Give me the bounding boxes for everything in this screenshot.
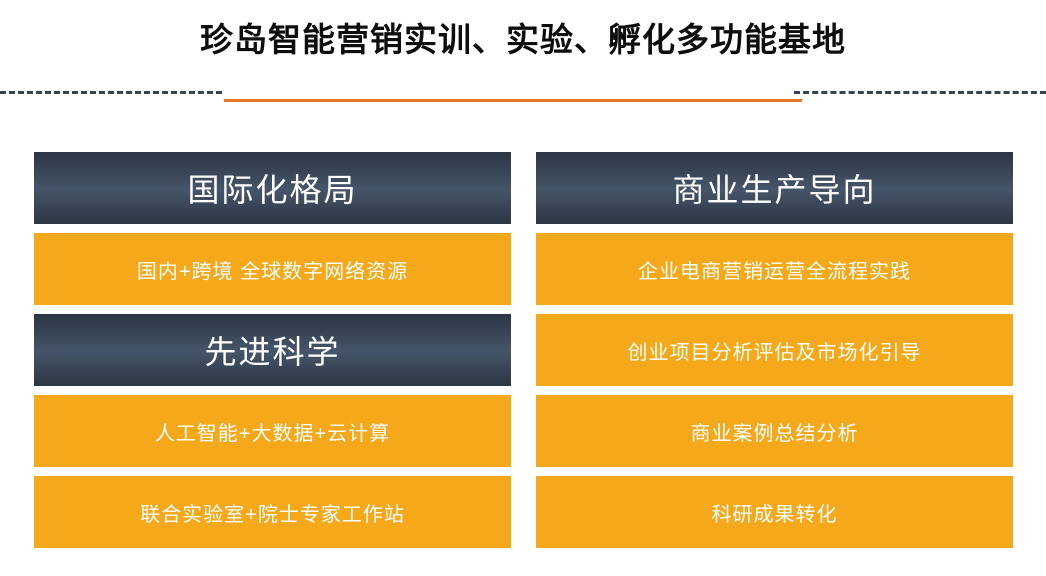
section-header-guojihua: 国际化格局 bbox=[34, 152, 511, 224]
list-item-label: 创业项目分析评估及市场化引导 bbox=[628, 336, 922, 365]
list-item: 创业项目分析评估及市场化引导 bbox=[536, 314, 1013, 386]
section-header-label: 先进科学 bbox=[204, 327, 340, 373]
divider-accent-line bbox=[224, 99, 802, 102]
list-item-label: 国内+跨境 全球数字网络资源 bbox=[137, 255, 408, 284]
list-item: 人工智能+大数据+云计算 bbox=[34, 395, 511, 467]
left-column: 国际化格局 国内+跨境 全球数字网络资源 先进科学 人工智能+大数据+云计算 联… bbox=[34, 152, 511, 562]
list-item-label: 人工智能+大数据+云计算 bbox=[155, 417, 390, 446]
section-header-xianjinkexue: 先进科学 bbox=[34, 314, 511, 386]
list-item: 科研成果转化 bbox=[536, 476, 1013, 548]
list-item: 商业案例总结分析 bbox=[536, 395, 1013, 467]
section-header-shangyeshengchan: 商业生产导向 bbox=[536, 152, 1013, 224]
divider-dashed-left bbox=[0, 91, 222, 94]
list-item: 国内+跨境 全球数字网络资源 bbox=[34, 233, 511, 305]
section-header-label: 国际化格局 bbox=[187, 165, 357, 211]
list-item-label: 联合实验室+院士专家工作站 bbox=[140, 498, 405, 527]
list-item-label: 科研成果转化 bbox=[712, 498, 838, 527]
list-item: 企业电商营销运营全流程实践 bbox=[536, 233, 1013, 305]
page-title: 珍岛智能营销实训、实验、孵化多功能基地 bbox=[0, 18, 1046, 62]
list-item: 联合实验室+院士专家工作站 bbox=[34, 476, 511, 548]
divider-dashed-right bbox=[794, 91, 1046, 94]
list-item-label: 企业电商营销运营全流程实践 bbox=[638, 255, 911, 284]
list-item-label: 商业案例总结分析 bbox=[691, 417, 859, 446]
section-header-label: 商业生产导向 bbox=[672, 165, 876, 211]
right-column: 商业生产导向 企业电商营销运营全流程实践 创业项目分析评估及市场化引导 商业案例… bbox=[536, 152, 1013, 562]
content-columns: 国际化格局 国内+跨境 全球数字网络资源 先进科学 人工智能+大数据+云计算 联… bbox=[34, 152, 1013, 562]
